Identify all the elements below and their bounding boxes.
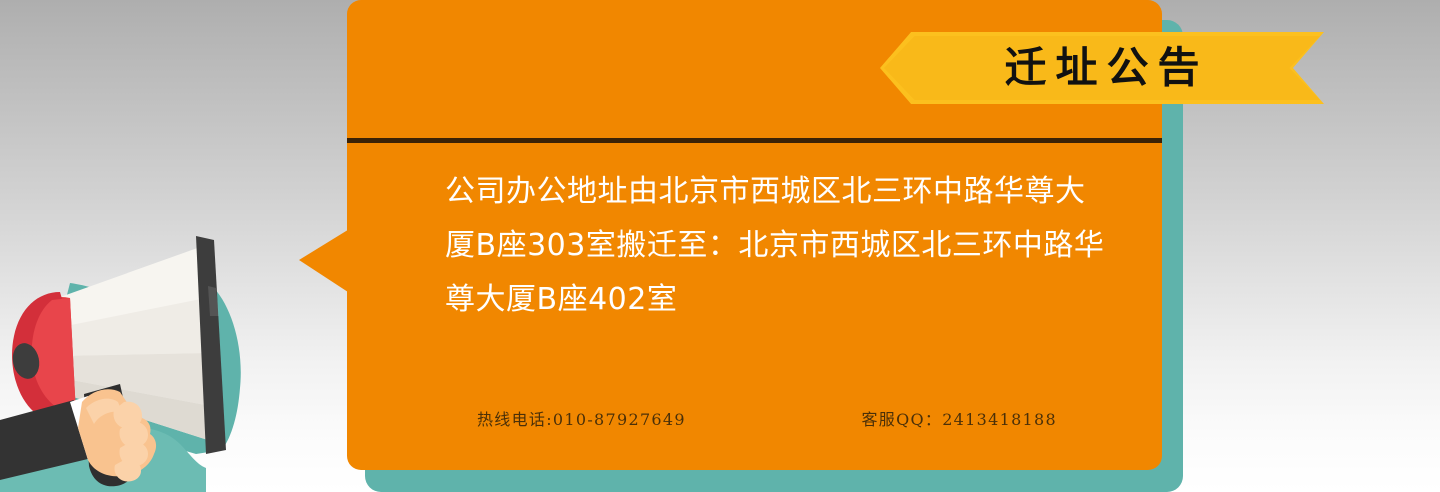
title-divider [347, 138, 1162, 143]
hotline-text: 热线电话:010-87927649 [477, 406, 686, 430]
speech-bubble-tail [299, 228, 351, 294]
title-banner: 迁址公告 [880, 32, 1324, 104]
announcement-body: 公司办公地址由北京市西城区北三环中路华尊大厦B座303室搬迁至：北京市西城区北三… [445, 165, 1105, 327]
qq-text: 客服QQ：2413418188 [861, 406, 1057, 430]
hand-holding-megaphone-illustration [0, 188, 300, 492]
page-title: 迁址公告 [880, 32, 1324, 104]
footer-contacts: 热线电话:010-87927649 客服QQ：2413418188 [455, 406, 1095, 430]
announcement-banner-image: 迁址公告 公司办公地址由北京市西城区北三环中路华尊大厦B座303室搬迁至：北京市… [0, 0, 1440, 492]
